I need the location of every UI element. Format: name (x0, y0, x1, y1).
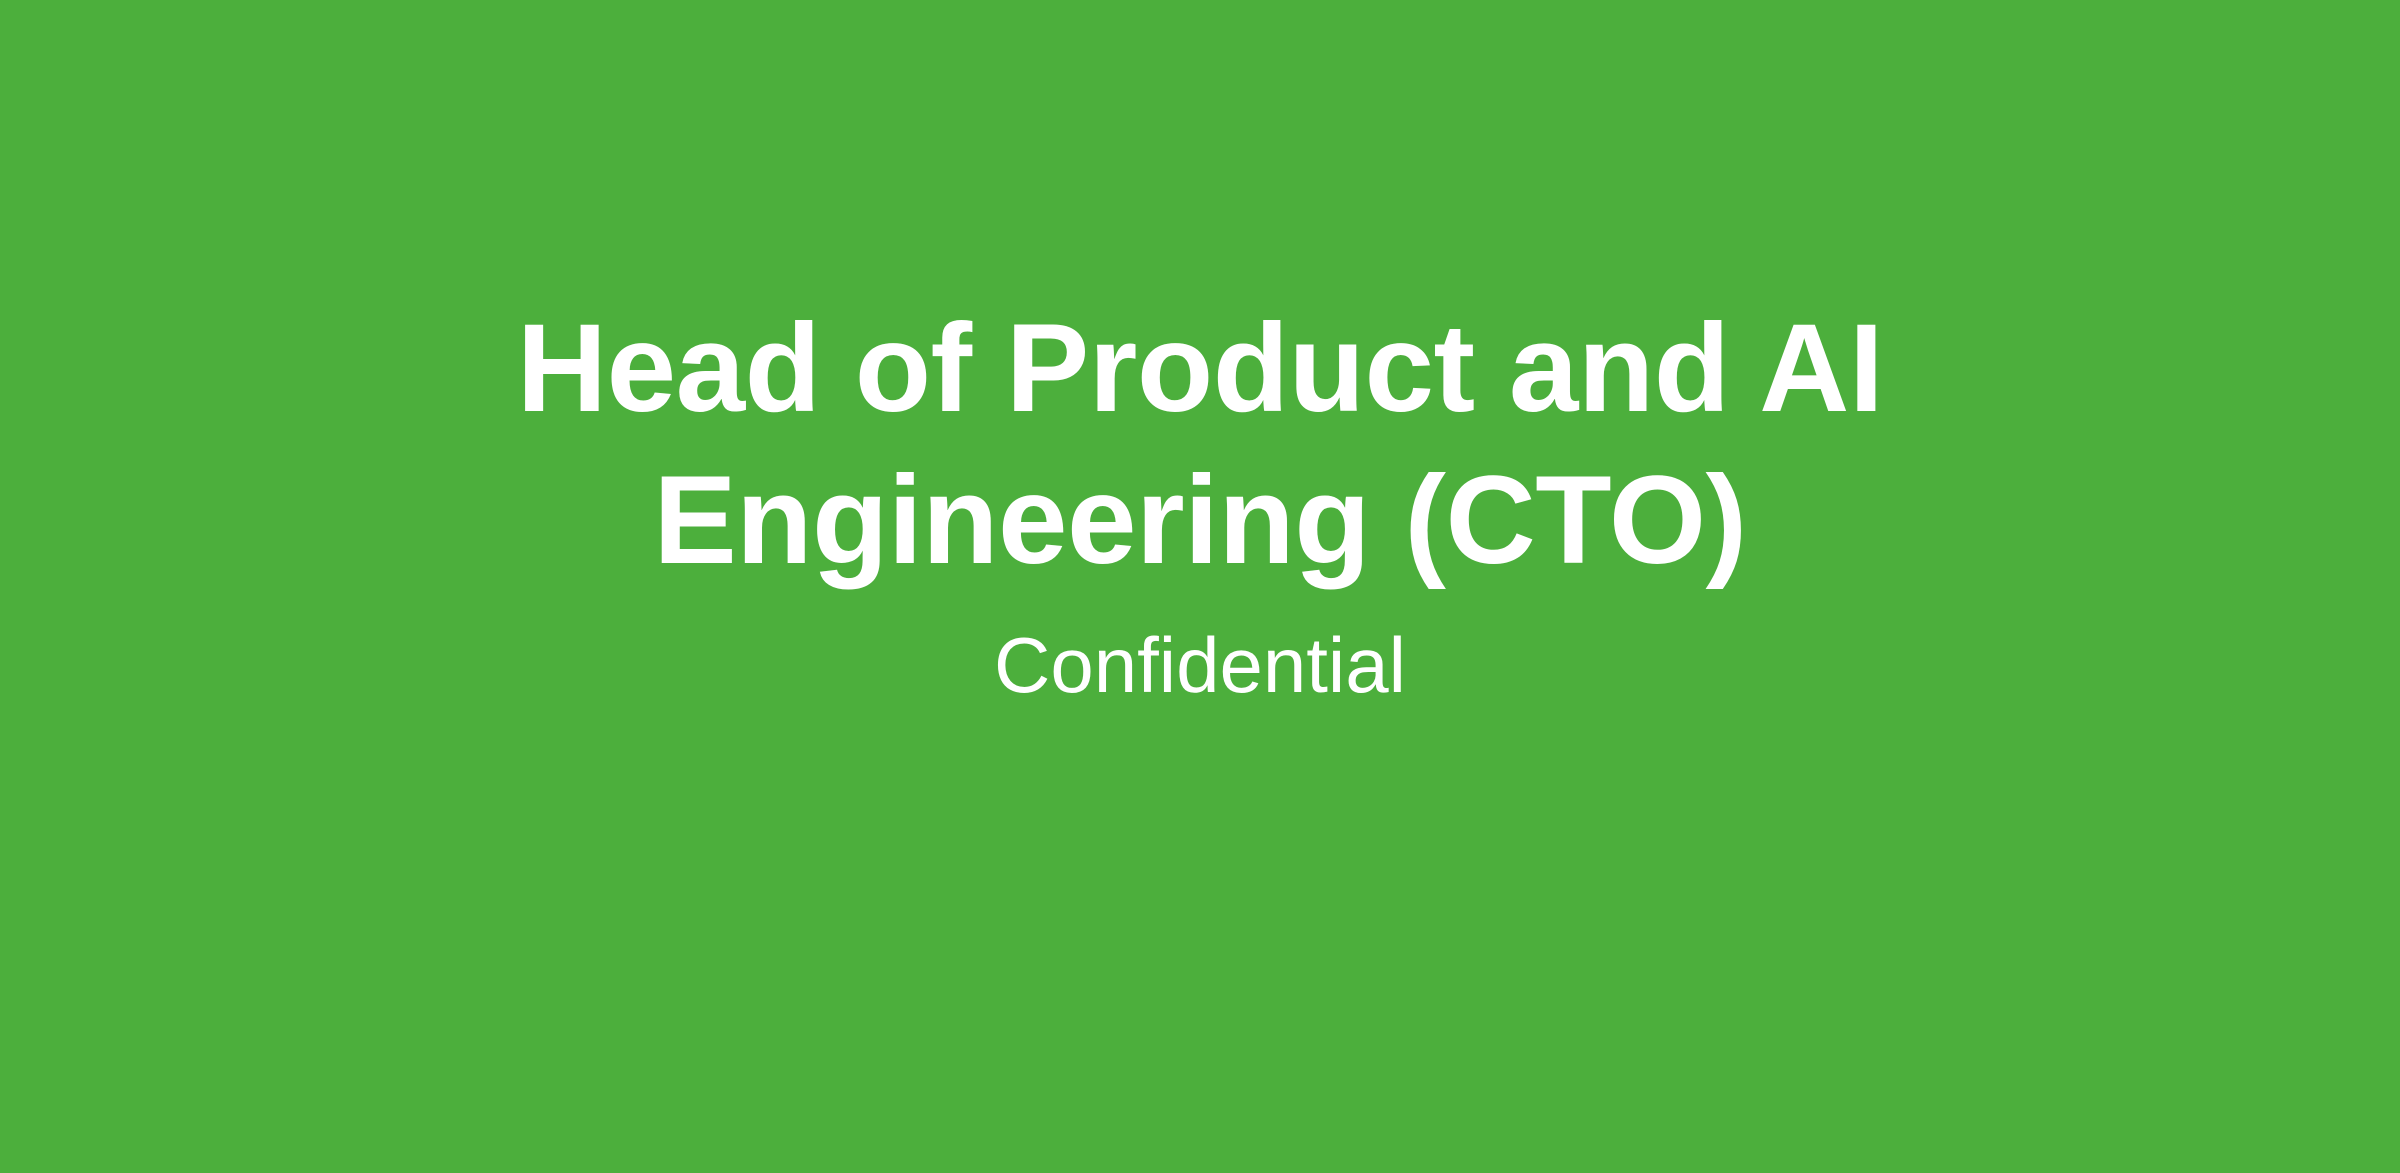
confidentiality-subtitle: Confidential (994, 597, 1406, 711)
title-slide: Head of Product and AI Engineering (CTO)… (0, 0, 2400, 1173)
page-title: Head of Product and AI Engineering (CTO) (420, 293, 1980, 597)
title-slide-content: Head of Product and AI Engineering (CTO)… (0, 0, 2400, 1173)
